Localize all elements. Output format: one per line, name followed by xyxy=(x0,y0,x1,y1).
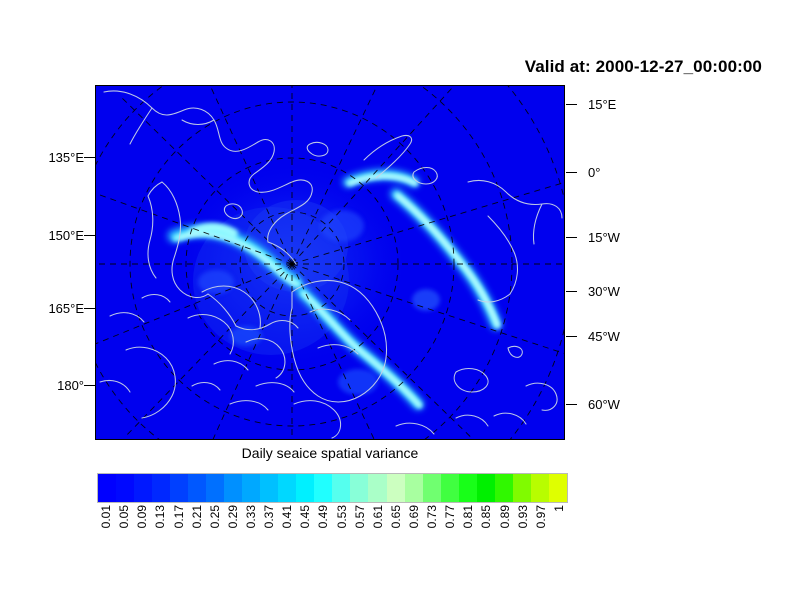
colorbar-swatch xyxy=(477,474,495,502)
colorbar-swatch xyxy=(368,474,386,502)
colorbar-swatch xyxy=(116,474,134,502)
axis-tick-right-4 xyxy=(566,336,577,337)
colorbar-tick-label: 0.93 xyxy=(516,505,530,528)
colorbar-tick-label: 0.57 xyxy=(353,505,367,528)
colorbar-tick-label: 0.61 xyxy=(371,505,385,528)
figure-canvas: Valid at: 2000-12-27_00:00:00 xyxy=(0,0,792,612)
colorbar-tick-label: 0.33 xyxy=(244,505,258,528)
colorbar-swatch xyxy=(387,474,405,502)
polar-map xyxy=(96,86,564,439)
colorbar-swatch xyxy=(423,474,441,502)
colorbar-tick-label: 0.41 xyxy=(280,505,294,528)
colorbar-swatch xyxy=(495,474,513,502)
axis-label-right-2: 15°W xyxy=(588,230,620,245)
axis-tick-left-0 xyxy=(84,157,95,158)
colorbar-tick-label: 0.89 xyxy=(498,505,512,528)
colorbar-tick-label: 0.85 xyxy=(479,505,493,528)
axis-tick-left-2 xyxy=(84,308,95,309)
colorbar-tick-label: 0.17 xyxy=(172,505,186,528)
colorbar-tick-label: 0.25 xyxy=(208,505,222,528)
colorbar-tick-label: 0.21 xyxy=(190,505,204,528)
colorbar-tick-label: 0.29 xyxy=(226,505,240,528)
colorbar-swatch xyxy=(513,474,531,502)
colorbar-tick-label: 0.97 xyxy=(534,505,548,528)
axis-label-left-3: 180° xyxy=(18,378,84,393)
axis-label-right-5: 60°W xyxy=(588,397,620,412)
colorbar-swatch xyxy=(459,474,477,502)
colorbar-tick-label: 0.09 xyxy=(135,505,149,528)
colorbar-tick-label: 0.05 xyxy=(117,505,131,528)
colorbar-tick-label: 0.73 xyxy=(425,505,439,528)
map-plot-area[interactable] xyxy=(95,85,565,440)
axis-label-left-2: 165°E xyxy=(18,301,84,316)
axis-label-right-3: 30°W xyxy=(588,284,620,299)
colorbar-tick-label: 0.77 xyxy=(443,505,457,528)
colorbar-swatch xyxy=(441,474,459,502)
colorbar-swatch xyxy=(549,474,567,502)
colorbar-tick-label: 0.81 xyxy=(461,505,475,528)
axis-label-right-0: 15°E xyxy=(588,97,616,112)
colorbar-swatch xyxy=(350,474,368,502)
axis-tick-right-5 xyxy=(566,404,577,405)
axis-label-left-1: 150°E xyxy=(18,228,84,243)
colorbar-swatch xyxy=(314,474,332,502)
colorbar-tick-label: 0.01 xyxy=(99,505,113,528)
colorbar-swatch xyxy=(170,474,188,502)
colorbar-tick-labels: 0.010.050.090.130.170.210.250.290.330.37… xyxy=(97,505,568,565)
axis-tick-right-3 xyxy=(566,291,577,292)
axis-tick-left-1 xyxy=(84,235,95,236)
colorbar-swatch xyxy=(332,474,350,502)
colorbar-tick-label: 0.45 xyxy=(298,505,312,528)
colorbar-tick-label: 0.49 xyxy=(316,505,330,528)
colorbar-swatch xyxy=(206,474,224,502)
colorbar-swatch xyxy=(242,474,260,502)
colorbar-tick-label: 0.69 xyxy=(407,505,421,528)
plot-caption: Daily seaice spatial variance xyxy=(95,445,565,461)
colorbar-tick-label: 0.65 xyxy=(389,505,403,528)
colorbar[interactable] xyxy=(97,473,568,503)
plot-title: Valid at: 2000-12-27_00:00:00 xyxy=(300,57,762,77)
colorbar-tick-label: 0.53 xyxy=(335,505,349,528)
colorbar-tick-label: 1 xyxy=(552,505,566,512)
colorbar-swatch xyxy=(134,474,152,502)
colorbar-swatch xyxy=(188,474,206,502)
axis-tick-left-3 xyxy=(84,385,95,386)
axis-tick-right-2 xyxy=(566,237,577,238)
colorbar-swatch xyxy=(531,474,549,502)
axis-label-right-4: 45°W xyxy=(588,329,620,344)
axis-tick-right-0 xyxy=(566,104,577,105)
colorbar-swatch xyxy=(296,474,314,502)
colorbar-swatch xyxy=(278,474,296,502)
colorbar-swatch xyxy=(152,474,170,502)
colorbar-tick-label: 0.37 xyxy=(262,505,276,528)
colorbar-swatch xyxy=(98,474,116,502)
axis-label-right-1: 0° xyxy=(588,165,600,180)
colorbar-swatch xyxy=(405,474,423,502)
axis-tick-right-1 xyxy=(566,172,577,173)
colorbar-swatch xyxy=(260,474,278,502)
colorbar-swatch xyxy=(224,474,242,502)
axis-label-left-0: 135°E xyxy=(18,150,84,165)
colorbar-tick-label: 0.13 xyxy=(153,505,167,528)
